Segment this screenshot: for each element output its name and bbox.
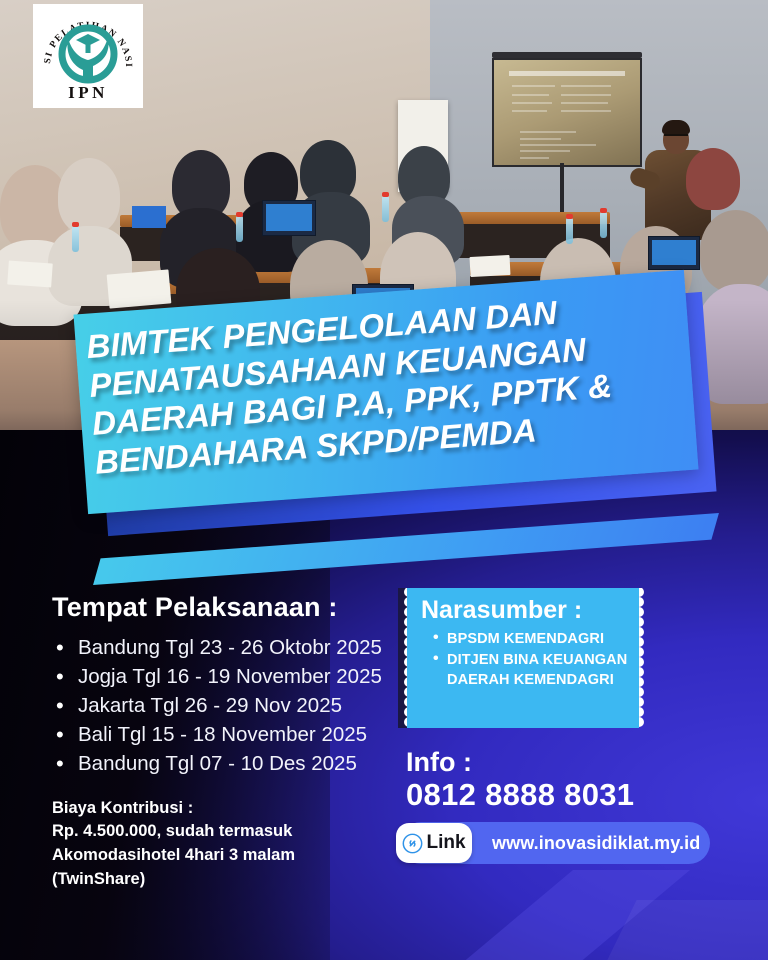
laptop	[648, 236, 700, 270]
link-badge[interactable]: Link	[396, 823, 472, 863]
ipn-logo: INOVASI PELATIHAN NASIONAL IPN	[33, 4, 143, 108]
link-badge-label: Link	[426, 832, 465, 854]
speaker-item-continued: DAERAH KEMENDAGRI	[433, 670, 633, 691]
speaker-item: BPSDM KEMENDAGRI	[433, 629, 633, 650]
website-url: www.inovasidiklat.my.id	[492, 833, 700, 854]
speakers-list: BPSDM KEMENDAGRI DITJEN BINA KEUANGAN DA…	[407, 629, 639, 691]
projector-screen-surface	[494, 60, 640, 165]
info-heading: Info :	[406, 748, 736, 776]
fee-heading: Biaya Kontribusi :	[52, 797, 412, 821]
fee-amount: Rp. 4.500.000, sudah termasuk	[52, 820, 412, 844]
attendee	[686, 148, 740, 210]
venue-list: Bandung Tgl 23 - 26 Oktobr 2025 Jogja Tg…	[52, 633, 412, 779]
slide-title-line	[509, 71, 626, 76]
tablet	[132, 206, 166, 228]
laptop	[262, 200, 316, 236]
speakers-box: Narasumber : BPSDM KEMENDAGRI DITJEN BIN…	[407, 588, 639, 728]
ipn-logo-abbr: IPN	[68, 83, 108, 102]
info-section: Info : 0812 8888 8031	[406, 748, 736, 812]
ipn-logo-icon: INOVASI PELATIHAN NASIONAL IPN	[38, 8, 138, 104]
venue-item: Jogja Tgl 16 - 19 November 2025	[52, 662, 412, 691]
chain-link-icon	[402, 833, 423, 854]
venue-section: Tempat Pelaksanaan : Bandung Tgl 23 - 26…	[52, 592, 412, 892]
info-phone-number[interactable]: 0812 8888 8031	[406, 778, 736, 812]
speakers-section: Narasumber : BPSDM KEMENDAGRI DITJEN BIN…	[398, 588, 648, 728]
projector-screen	[492, 58, 642, 167]
fee-note: (TwinShare)	[52, 868, 412, 892]
title-banner: BIMTEK PENGELOLAAN DAN PENATAUSAHAAN KEU…	[72, 292, 712, 527]
speakers-heading: Narasumber :	[421, 596, 639, 625]
fee-block: Biaya Kontribusi : Rp. 4.500.000, sudah …	[52, 797, 412, 893]
attendee	[700, 210, 768, 292]
venue-item: Bandung Tgl 23 - 26 Oktobr 2025	[52, 633, 412, 662]
website-link-pill[interactable]: Link www.inovasidiklat.my.id	[400, 822, 710, 864]
venue-item: Jakarta Tgl 26 - 29 Nov 2025	[52, 691, 412, 720]
venue-item: Bandung Tgl 07 - 10 Des 2025	[52, 749, 412, 778]
fee-detail: Akomodasihotel 4hari 3 malam	[52, 844, 412, 868]
speaker-item: DITJEN BINA KEUANGAN	[433, 650, 633, 671]
paper	[7, 260, 53, 287]
attendee	[58, 158, 120, 234]
venue-item: Bali Tgl 15 - 18 November 2025	[52, 720, 412, 749]
paper	[470, 255, 511, 277]
venue-heading: Tempat Pelaksanaan :	[52, 592, 412, 623]
promotional-flyer: INOVASI PELATIHAN NASIONAL IPN BIMTEK PE…	[0, 0, 768, 960]
scallop-edge-right-icon	[639, 588, 650, 728]
